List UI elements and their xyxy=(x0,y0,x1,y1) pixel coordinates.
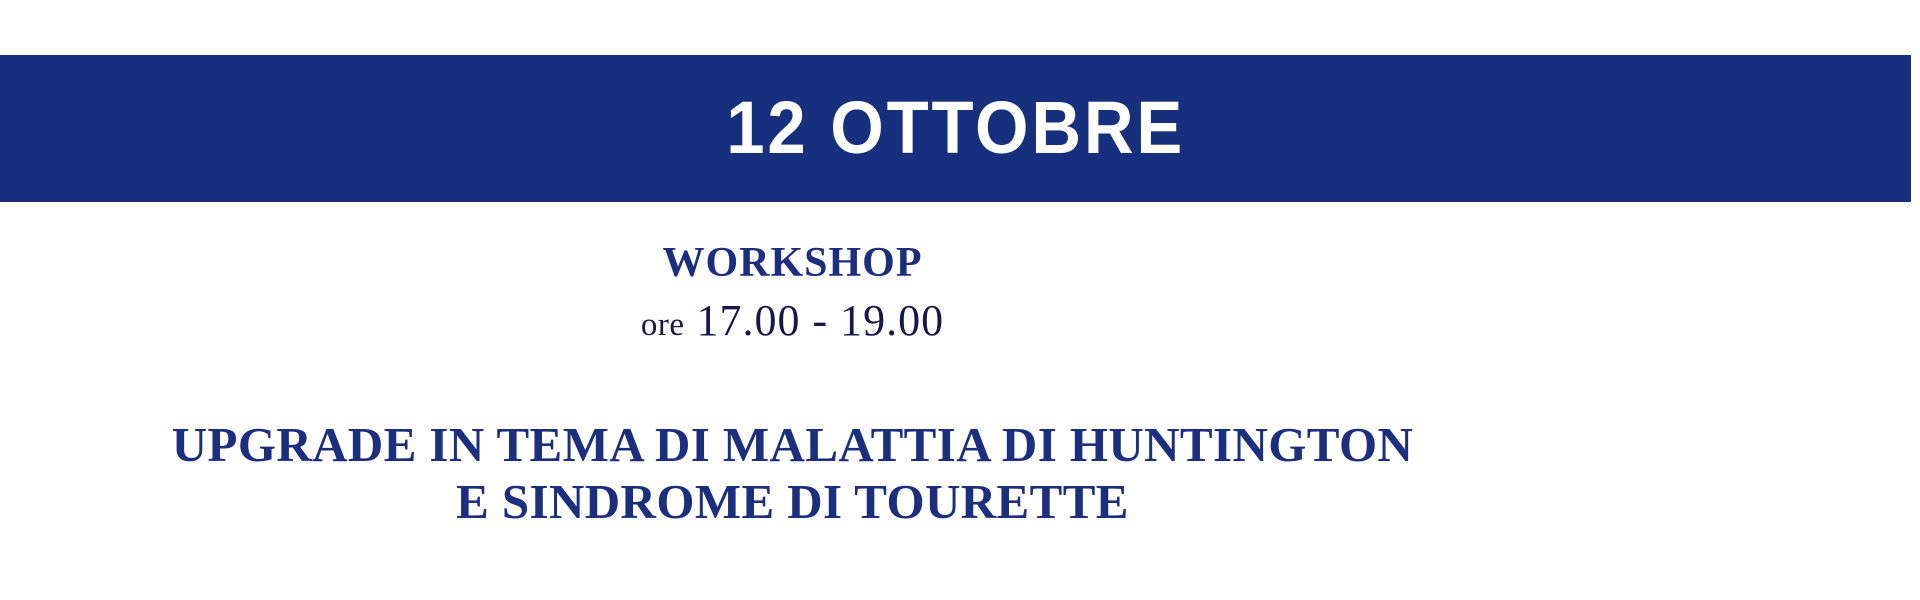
section-label-workshop: WORKSHOP xyxy=(0,242,1585,284)
event-title: UPGRADE IN TEMA DI MALATTIA DI HUNTINGTO… xyxy=(0,417,1585,531)
top-white-margin xyxy=(0,0,1920,55)
time-end: 19.00 xyxy=(840,296,944,345)
date-banner: 12 OTTOBRE xyxy=(0,55,1911,202)
date-banner-text: 12 OTTOBRE xyxy=(726,91,1185,165)
time-prefix-label: ore xyxy=(641,307,685,343)
event-title-line-2: E SINDROME DI TOURETTE xyxy=(0,474,1585,531)
time-separator: - xyxy=(812,296,828,345)
event-title-line-1: UPGRADE IN TEMA DI MALATTIA DI HUNTINGTO… xyxy=(0,417,1585,474)
poster-body: WORKSHOP ore 17.00 - 19.00 UPGRADE IN TE… xyxy=(0,202,1920,600)
time-start: 17.00 xyxy=(696,296,800,345)
event-poster: 12 OTTOBRE WORKSHOP ore 17.00 - 19.00 UP… xyxy=(0,0,1920,600)
event-time: ore 17.00 - 19.00 xyxy=(0,299,1585,343)
